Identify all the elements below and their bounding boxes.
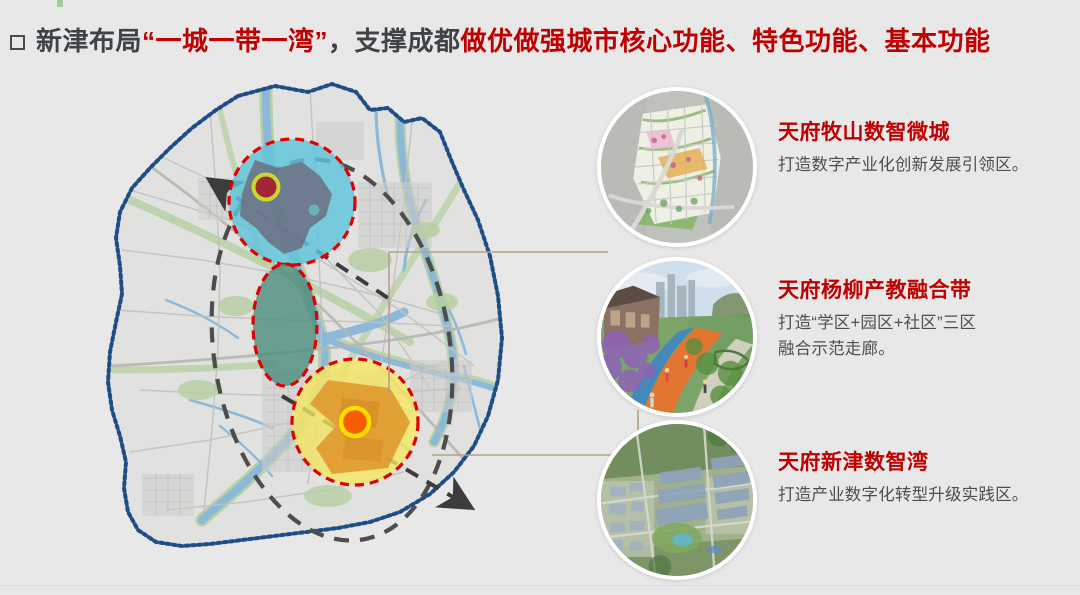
callout-label-1: 天府牧山数智微城 打造数字产业化创新发展引领区。 [778,120,1080,179]
xinjin-district-map[interactable] [70,70,590,580]
callout-desc-3: 打造产业数字化转型升级实践区。 [778,483,1080,509]
callout-title-2: 天府杨柳产教融合带 [778,278,1080,304]
callout-label-2: 天府杨柳产教融合带 打造“学区+园区+社区”三区 融合示范走廊。 [778,278,1080,362]
title-segment-3: 做优做强城市核心功能、特色功能、基本功能 [461,26,991,56]
zone-city-tianfu-mushan[interactable] [229,139,355,265]
callout-desc-2-line1: 打造“学区+园区+社区”三区 [778,311,1080,337]
urban-masterplan-illustration-icon [601,91,753,243]
title-segment-1: “一城一带一湾” [142,26,328,56]
callout-photo-2[interactable] [597,257,757,417]
callout-title-1: 天府牧山数智微城 [778,120,1080,146]
aerial-industrial-park-photo-icon [601,424,753,576]
callout-photo-1[interactable] [597,87,757,247]
callout-title-3: 天府新津数智湾 [778,450,1080,476]
page-title: 新津布局“一城一带一湾”，支撑成都做优做强城市核心功能、特色功能、基本功能 [0,18,1080,64]
bottom-divider [0,585,1080,586]
greenway-streetscape-rendering-icon [601,261,753,413]
top-green-mark [57,0,63,7]
title-segment-2: ，支撑成都 [328,26,461,56]
title-segment-0: 新津布局 [36,26,142,56]
slide-root: 新津布局“一城一带一湾”，支撑成都做优做强城市核心功能、特色功能、基本功能 [0,0,1080,595]
callout-desc-1: 打造数字产业化创新发展引领区。 [778,153,1080,179]
zone-bay-tianfu-xinjin[interactable] [292,359,418,485]
zone-belt-tianfu-yangliu[interactable] [253,264,317,386]
page-title-text: 新津布局“一城一带一湾”，支撑成都做优做强城市核心功能、特色功能、基本功能 [36,28,991,54]
callout-desc-2-line2: 融合示范走廊。 [778,337,1080,363]
callout-photo-3[interactable] [597,420,757,580]
hollow-square-bullet-icon [10,35,25,50]
callout-label-3: 天府新津数智湾 打造产业数字化转型升级实践区。 [778,450,1080,509]
